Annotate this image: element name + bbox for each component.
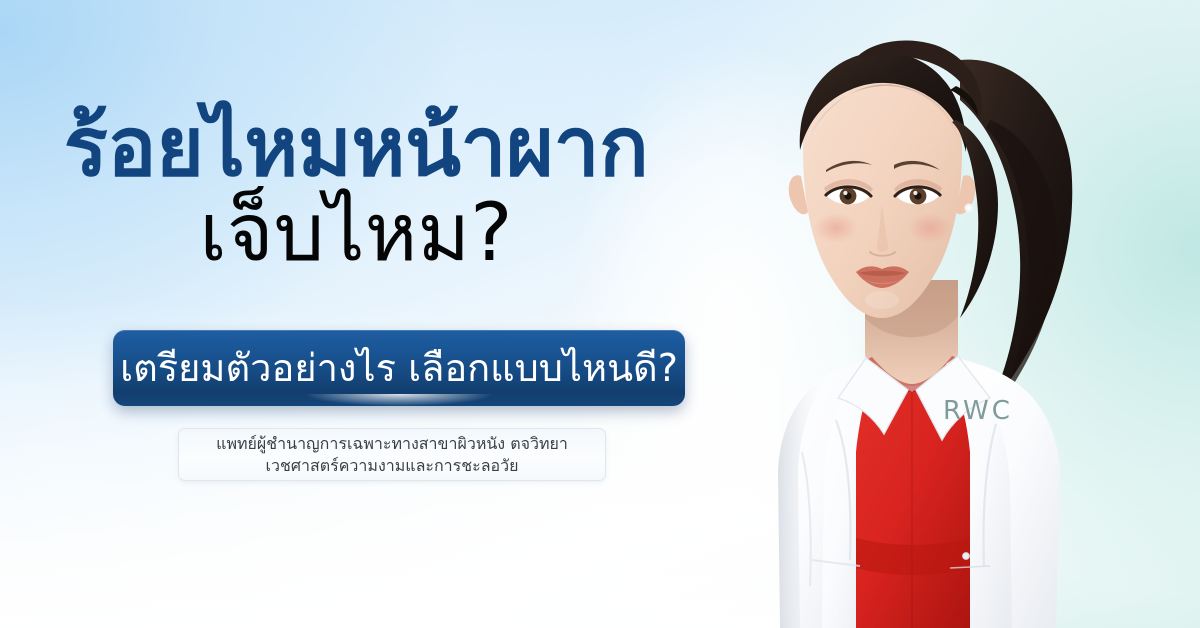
promo-banner: RWC ร้อยไหมหน้าผาก เจ็บไหม? เตรียมตัวอย่…: [0, 0, 1200, 628]
headline-line-1: ร้อยไหมหน้าผาก: [0, 108, 712, 188]
cta-banner[interactable]: เตรียมตัวอย่างไร เลือกแบบไหนดี?: [113, 330, 685, 406]
cta-banner-surface[interactable]: เตรียมตัวอย่างไร เลือกแบบไหนดี?: [113, 330, 685, 406]
doctor-portrait: RWC: [660, 0, 1200, 628]
cta-banner-label: เตรียมตัวอย่างไร เลือกแบบไหนดี?: [120, 349, 678, 387]
credential-box: แพทย์ผู้ชำนาญการเฉพาะทางสาขาผิวหนัง ตจวิ…: [178, 428, 606, 481]
cheek-right: [908, 213, 952, 243]
doctor-illustration: [660, 0, 1200, 628]
headline-line-2: เจ็บไหม?: [0, 194, 712, 272]
credential-line-1: แพทย์ผู้ชำนาญการเฉพาะทางสาขาผิวหนัง ตจวิ…: [216, 433, 568, 455]
cheek-left: [814, 213, 858, 243]
rwc-logo: RWC: [943, 396, 1013, 426]
coat-button: [963, 553, 970, 560]
credential-line-2: เวชศาสตร์ความงามและการชะลอวัย: [266, 455, 519, 477]
headline: ร้อยไหมหน้าผาก เจ็บไหม?: [0, 108, 712, 273]
